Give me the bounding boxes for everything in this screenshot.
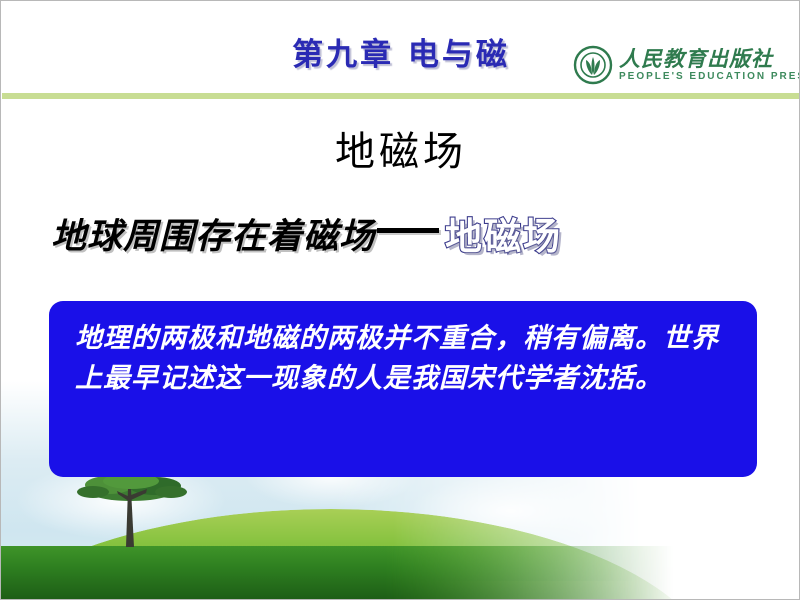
statement-emphasis-wordart: 地磁场 (445, 206, 562, 260)
green-hill (0, 509, 721, 600)
tree-icon (73, 471, 193, 561)
logo-english-name: PEOPLE'S EDUCATION PRESS (619, 72, 800, 82)
callout-body-text: 地理的两极和地磁的两极并不重合，稍有偏离。世界上最早记述这一现象的人是我国宋代学… (75, 319, 731, 399)
publisher-logo: 人民教育出版社 PEOPLE'S EDUCATION PRESS (573, 41, 789, 89)
grass-field (1, 546, 701, 600)
statement-lead-text: 地球周围存在着磁场 (51, 208, 375, 259)
statement-dash (377, 228, 439, 233)
logo-chinese-name: 人民教育出版社 (619, 48, 800, 69)
leaf-emblem-icon (573, 45, 613, 85)
slide-subtitle: 地磁场 (1, 119, 800, 177)
info-callout-box: 地理的两极和地磁的两极并不重合，稍有偏离。世界上最早记述这一现象的人是我国宋代学… (49, 301, 757, 477)
header-divider (2, 93, 800, 99)
slide-canvas: 第九章 电与磁 人民教育出版社 PEOPLE'S EDUCATION PRESS… (0, 0, 800, 600)
statement-line: 地球周围存在着磁场 地磁场 (51, 206, 751, 260)
logo-wordmark: 人民教育出版社 PEOPLE'S EDUCATION PRESS (619, 48, 800, 82)
